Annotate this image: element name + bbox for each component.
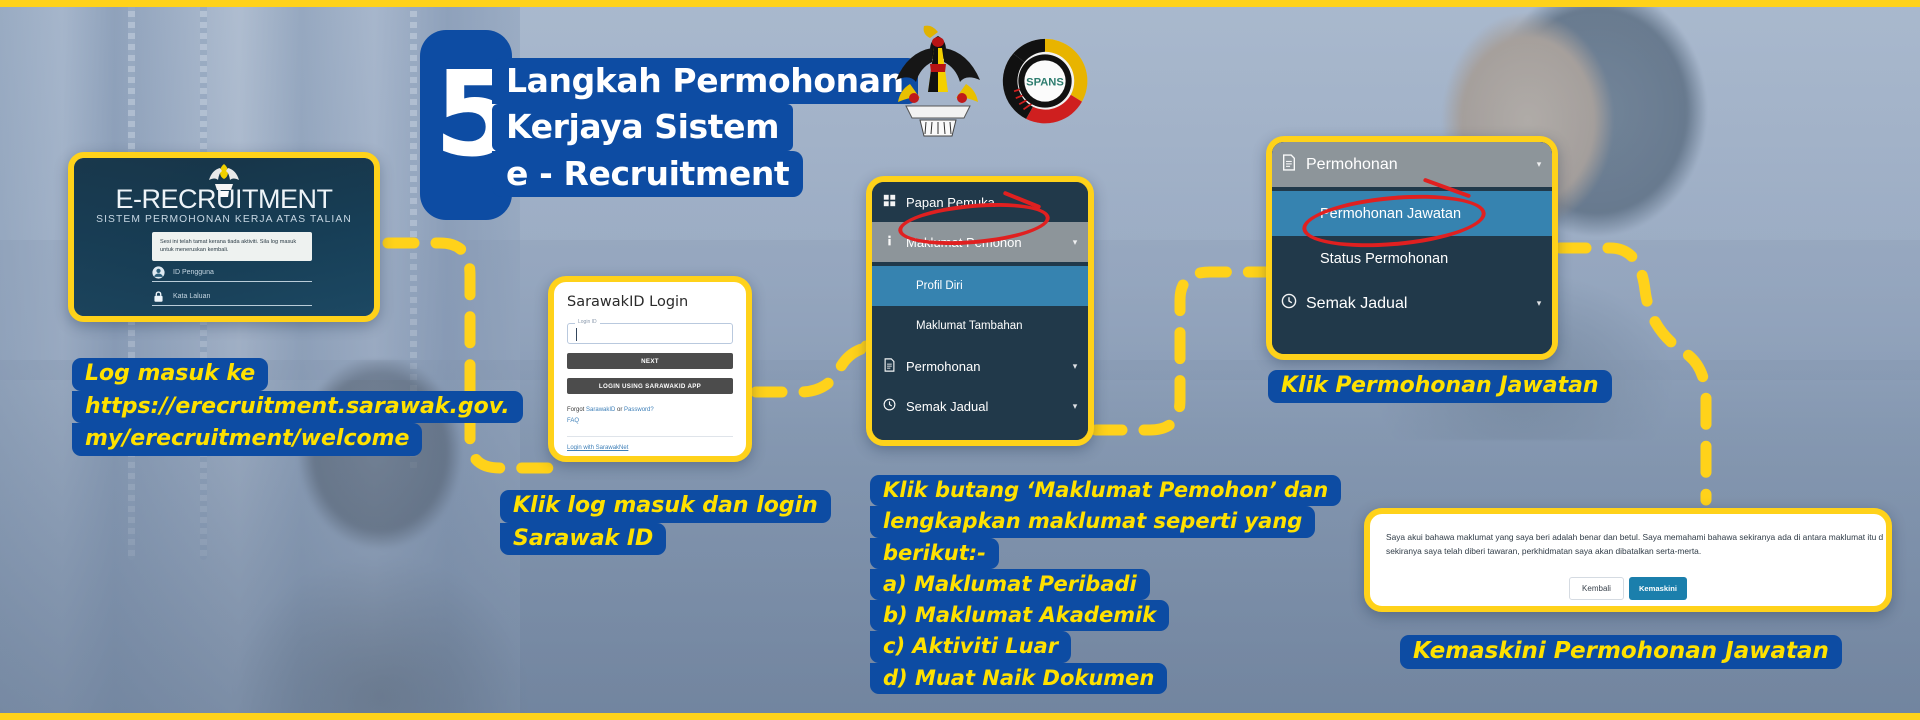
title-lines: Langkah Permohonan Kerjaya Sistem e - Re… — [492, 58, 918, 197]
menu-item-semak-jadual[interactable]: Semak Jadual ▾ — [1272, 281, 1552, 326]
menu-item-maklumat-pemohon[interactable]: Maklumat Pemohon ▾ — [872, 222, 1088, 262]
menu-item-label: Maklumat Pemohon — [906, 235, 1062, 250]
faq-link[interactable]: FAQ — [567, 418, 579, 424]
sarawakid-app-login-button[interactable]: LOGIN USING SARAWAKID APP — [567, 378, 733, 394]
title-line-3: e - Recruitment — [492, 151, 803, 197]
bottom-accent-rule — [0, 713, 1920, 720]
sarawak-state-crest-icon — [890, 18, 986, 138]
menu-item-permohonan-jawatan[interactable]: Permohonan Jawatan — [1272, 191, 1552, 236]
caption-line: lengkapkan maklumat seperti yang — [870, 506, 1315, 537]
title-line-2: Kerjaya Sistem — [492, 104, 793, 150]
application-menu-screenshot[interactable]: Permohonan ▾ Permohonan Jawatan Status P… — [1266, 136, 1558, 360]
info-icon — [872, 234, 906, 250]
caption-line: a) Maklumat Peribadi — [870, 569, 1150, 600]
text-caret — [576, 328, 577, 341]
clock-icon — [1272, 293, 1306, 314]
erecruitment-login-screenshot[interactable]: E-RECRUITMENT SISTEM PERMOHONAN KERJA AT… — [68, 152, 380, 322]
caption-line: https://erecruitment.sarawak.gov. — [72, 391, 523, 424]
sarawakid-login-id-label: Login ID — [575, 319, 600, 325]
chevron-down-icon[interactable]: ▾ — [1062, 361, 1088, 372]
declaration-text-line-2: sekiranya saya telah diberi tawaran, per… — [1370, 544, 1886, 558]
menu-item-permohonan[interactable]: Permohonan ▾ — [872, 346, 1088, 386]
caption-line: my/erecruitment/welcome — [72, 423, 422, 456]
erecruitment-login-button[interactable]: Log Masuk — [152, 316, 312, 322]
forgot-sarawakid-link[interactable]: SarawakID — [586, 407, 615, 413]
top-accent-rule — [0, 0, 1920, 7]
caption-line: Log masuk ke — [72, 358, 268, 391]
title-line-1: Langkah Permohonan — [492, 58, 918, 104]
svg-text:SPANS: SPANS — [1026, 76, 1064, 88]
caption-step-5: Kemaskini Permohonan Jawatan — [1400, 635, 1842, 669]
logo-group: SPANS — [890, 18, 1088, 138]
caption-step-4: Klik Permohonan Jawatan — [1268, 370, 1612, 403]
caption-line: Klik Permohonan Jawatan — [1268, 370, 1612, 403]
applicant-menu-screenshot[interactable]: Papan Pemuka Maklumat Pemohon ▾ Profil D… — [866, 176, 1094, 446]
menu-item-label: Papan Pemuka — [906, 195, 1062, 210]
application-menu: Permohonan ▾ Permohonan Jawatan Status P… — [1272, 142, 1552, 354]
declaration-dialog-screenshot[interactable]: Saya akui bahawa maklumat yang saya beri… — [1364, 508, 1892, 612]
kemaskini-button[interactable]: Kemaskini — [1629, 577, 1687, 600]
menu-item-label: Permohonan — [1306, 156, 1526, 174]
lock-icon — [152, 290, 165, 303]
caption-step-3: Klik butang ‘Maklumat Pemohon’ dan lengk… — [870, 475, 1341, 694]
caption-line: Klik butang ‘Maklumat Pemohon’ dan — [870, 475, 1341, 506]
chevron-down-icon[interactable]: ▾ — [1062, 401, 1088, 412]
spans-logo-icon: SPANS — [1002, 38, 1088, 124]
menu-item-label: Semak Jadual — [906, 399, 1062, 414]
chevron-down-icon[interactable]: ▾ — [1526, 298, 1552, 309]
sarawakid-login-id-input[interactable]: Login ID — [567, 323, 733, 344]
erecruitment-password-placeholder: Kata Laluan — [173, 293, 210, 300]
erecruitment-title: E-RECRUITMENT — [74, 184, 374, 215]
user-icon — [152, 266, 165, 279]
caption-line: b) Maklumat Akademik — [870, 600, 1169, 631]
divider — [567, 436, 733, 437]
caption-line: c) Aktiviti Luar — [870, 631, 1071, 662]
sarawakid-help-links: Forgot SarawakID or Password? FAQ — [567, 405, 733, 426]
session-expired-message: Sesi ini telah tamat kerana tiada aktivi… — [152, 232, 312, 261]
erecruitment-username-placeholder: ID Pengguna — [173, 269, 214, 276]
sarawakid-footer: Login with SarawakNet Don't have an acco… — [567, 445, 733, 462]
menu-item-profil-diri[interactable]: Profil Diri — [872, 266, 1088, 306]
forgot-line: Forgot SarawakID or Password? — [567, 405, 733, 416]
menu-item-label: Maklumat Tambahan — [906, 320, 1088, 332]
menu-item-label: Semak Jadual — [1306, 295, 1526, 313]
forgot-password-link[interactable]: Password? — [624, 407, 654, 413]
sarawakid-login-screenshot[interactable]: SarawakID Login Login ID NEXT LOGIN USIN… — [548, 276, 752, 462]
caption-line: Sarawak ID — [500, 523, 666, 556]
caption-line: Kemaskini Permohonan Jawatan — [1400, 635, 1842, 669]
erecruitment-username-field[interactable]: ID Pengguna — [152, 264, 312, 282]
clock-icon — [872, 398, 906, 414]
menu-item-label: Status Permohonan — [1306, 251, 1552, 267]
menu-item-semak-jadual[interactable]: Semak Jadual ▾ — [872, 386, 1088, 426]
forgot-or: or — [615, 407, 624, 413]
caption-line: Klik log masuk dan login — [500, 490, 831, 523]
forgot-prefix: Forgot — [567, 407, 586, 413]
menu-item-label: Profil Diri — [906, 280, 1088, 292]
login-with-sarawaknet-link[interactable]: Login with SarawakNet — [567, 445, 628, 451]
menu-item-status-permohonan[interactable]: Status Permohonan — [1272, 236, 1552, 281]
erecruitment-subtitle: SISTEM PERMOHONAN KERJA ATAS TALIAN — [74, 214, 374, 225]
chevron-down-icon[interactable]: ▾ — [1526, 159, 1552, 170]
menu-item-label: Permohonan — [906, 359, 1062, 374]
menu-item-permohonan[interactable]: Permohonan ▾ — [1272, 142, 1552, 187]
caption-line: berikut:- — [870, 538, 999, 569]
sarawakid-next-button[interactable]: NEXT — [567, 353, 733, 369]
caption-line: d) Muat Naik Dokumen — [870, 663, 1167, 694]
caption-step-1: Log masuk ke https://erecruitment.sarawa… — [72, 358, 523, 456]
document-icon — [872, 358, 906, 375]
kembali-button[interactable]: Kembali — [1569, 577, 1624, 600]
caption-step-2: Klik log masuk dan login Sarawak ID — [500, 490, 831, 555]
menu-item-label: Permohonan Jawatan — [1306, 206, 1552, 222]
erecruitment-password-field[interactable]: Kata Laluan — [152, 288, 312, 306]
declaration-buttons: Kembali Kemaskini — [1370, 577, 1886, 600]
chevron-down-icon[interactable]: ▾ — [1062, 237, 1088, 248]
applicant-menu: Papan Pemuka Maklumat Pemohon ▾ Profil D… — [872, 182, 1088, 440]
document-icon — [1272, 154, 1306, 176]
declaration-text-line-1: Saya akui bahawa maklumat yang saya beri… — [1370, 514, 1886, 544]
register-now-button[interactable]: REGISTER NOW — [672, 458, 733, 462]
menu-item-maklumat-tambahan[interactable]: Maklumat Tambahan — [872, 306, 1088, 346]
sarawakid-title: SarawakID Login — [567, 294, 733, 310]
